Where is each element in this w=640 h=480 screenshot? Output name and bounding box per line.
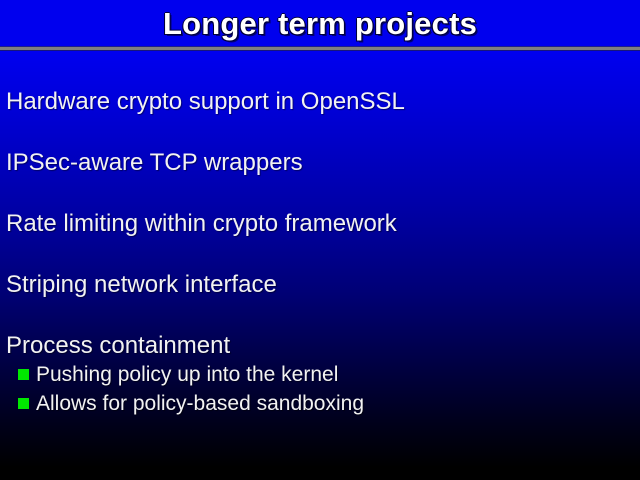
sub-bullet-item-policy-based-sandboxing: Allows for policy-based sandboxing — [18, 391, 364, 416]
slide-title: Longer term projects — [0, 5, 640, 43]
bullet-item-rate-limiting: Rate limiting within crypto framework — [6, 210, 397, 238]
bullet-item-ipsec-tcp-wrappers: IPSec-aware TCP wrappers — [6, 149, 303, 177]
sub-bullet-item-label: Pushing policy up into the kernel — [36, 362, 338, 387]
green-square-bullet-icon — [18, 398, 29, 409]
sub-bullet-item-pushing-policy: Pushing policy up into the kernel — [18, 362, 338, 387]
bullet-item-striping-network-interface: Striping network interface — [6, 271, 277, 299]
sub-bullet-item-label: Allows for policy-based sandboxing — [36, 391, 364, 416]
green-square-bullet-icon — [18, 369, 29, 380]
bullet-item-process-containment: Process containment — [6, 332, 230, 360]
bullet-item-hardware-crypto: Hardware crypto support in OpenSSL — [6, 88, 405, 116]
slide-content: Hardware crypto support in OpenSSL IPSec… — [0, 51, 640, 480]
presentation-slide: Longer term projects Hardware crypto sup… — [0, 0, 640, 480]
